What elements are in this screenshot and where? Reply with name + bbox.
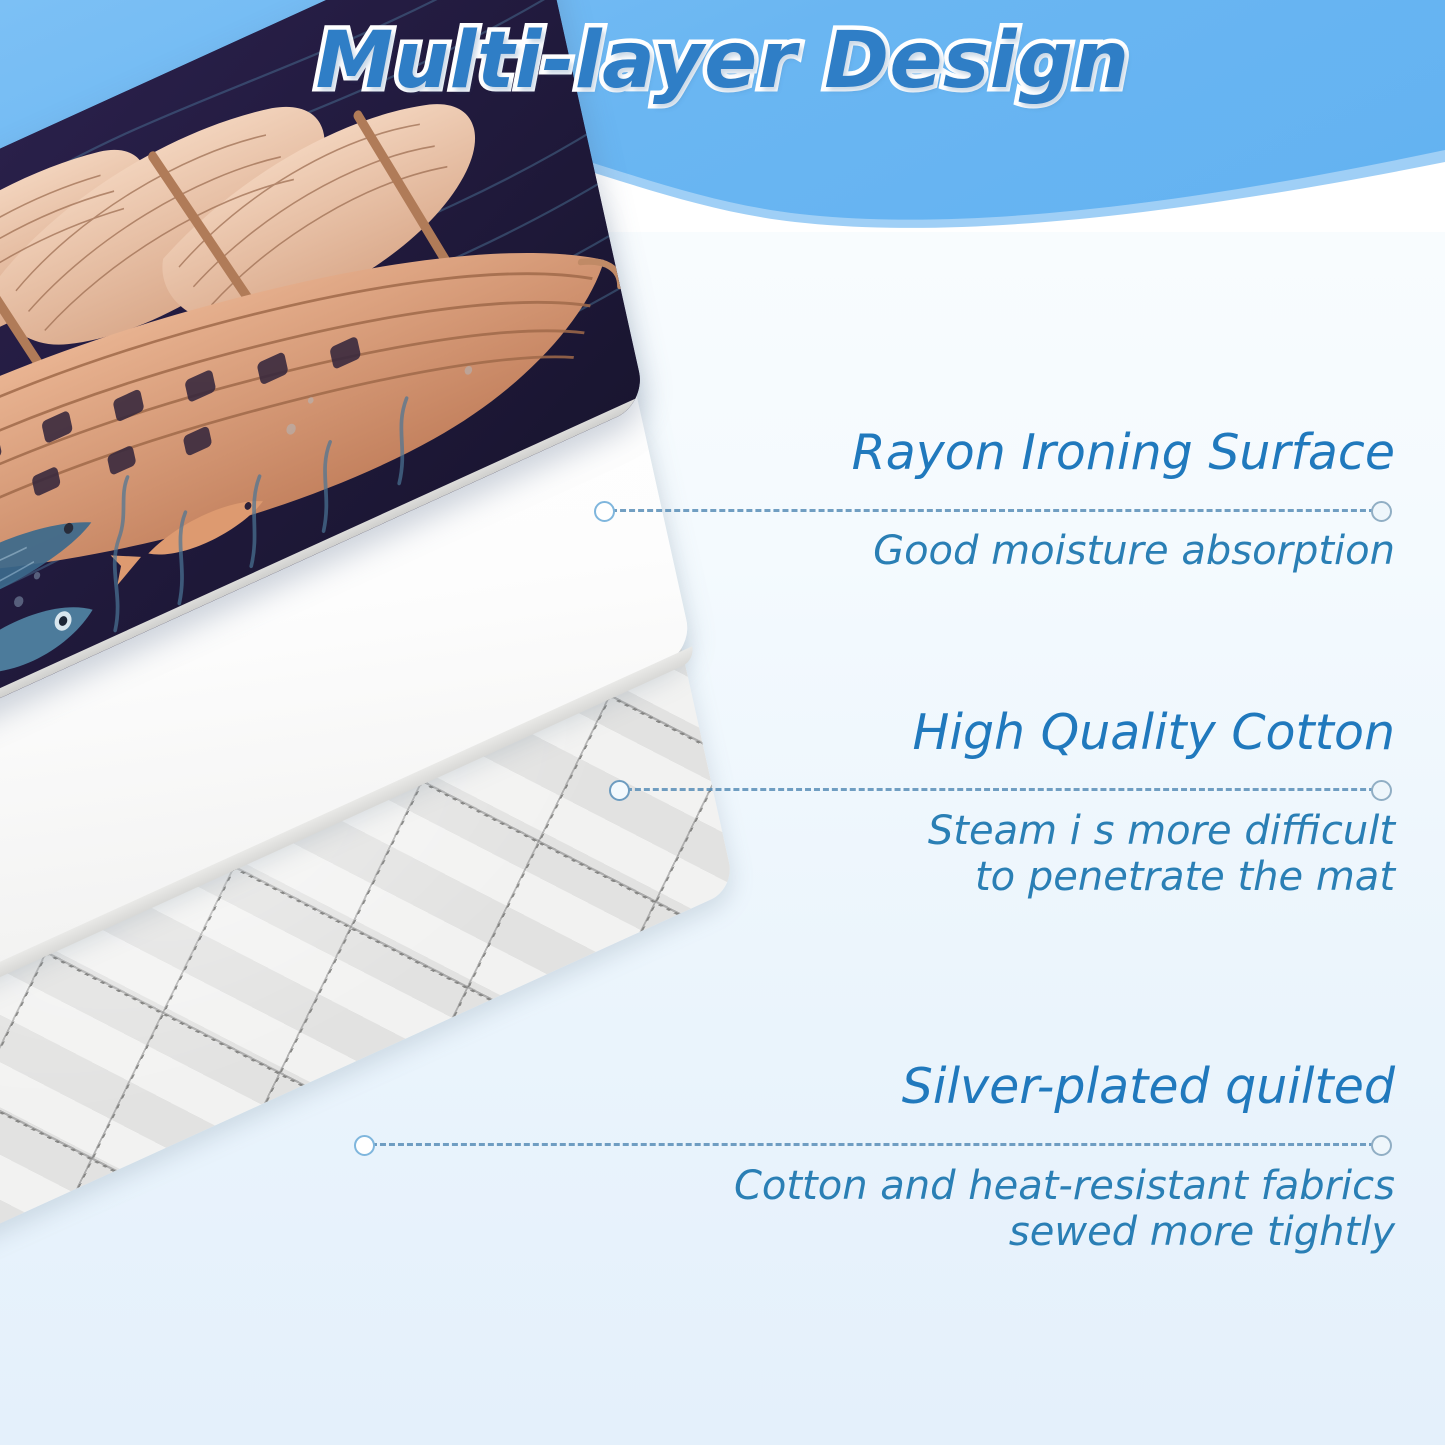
leader-dash-quilted [362, 1143, 1384, 1146]
leader-anchor-dot-cotton [609, 780, 630, 801]
feature-block-rayon: Rayon Ironing Surface [852, 428, 1395, 478]
leader-anchor-dot-quilted [354, 1135, 375, 1156]
leader-anchor-dot-rayon [594, 501, 615, 522]
leader-dash-rayon [602, 509, 1384, 512]
feature-heading-rayon: Rayon Ironing Surface [852, 428, 1395, 478]
feature-subtitle-quilted: Cotton and heat-resistant fabrics sewed … [734, 1163, 1395, 1256]
infographic-canvas: Multi-layer Design [0, 0, 1445, 1445]
feature-subtitle-line: Cotton and heat-resistant fabrics [734, 1163, 1395, 1209]
leader-line-quilted [362, 1143, 1384, 1145]
feature-heading-cotton: High Quality Cotton [912, 708, 1395, 758]
feature-block-cotton: High Quality Cotton [912, 708, 1395, 758]
leader-end-dot-quilted [1371, 1135, 1392, 1156]
feature-subtitle-line: Steam i s more difficult [928, 808, 1395, 854]
feature-subtitle-rayon: Good moisture absorption [873, 528, 1395, 574]
feature-subtitle-cotton: Steam i s more difficult to penetrate th… [928, 808, 1395, 901]
feature-subtitle-line: Good moisture absorption [873, 528, 1395, 574]
feature-block-quilted: Silver-plated quilted [902, 1062, 1395, 1112]
product-layer-stack [0, 270, 840, 1390]
page-title: Multi-layer Design [0, 16, 1445, 106]
leader-dash-cotton [617, 788, 1384, 791]
feature-subtitle-line: sewed more tightly [734, 1209, 1395, 1255]
leader-line-rayon [602, 509, 1384, 511]
feature-subtitle-line: to penetrate the mat [928, 854, 1395, 900]
feature-heading-quilted: Silver-plated quilted [902, 1062, 1395, 1112]
leader-end-dot-rayon [1371, 501, 1392, 522]
leader-end-dot-cotton [1371, 780, 1392, 801]
leader-line-cotton [617, 788, 1384, 790]
